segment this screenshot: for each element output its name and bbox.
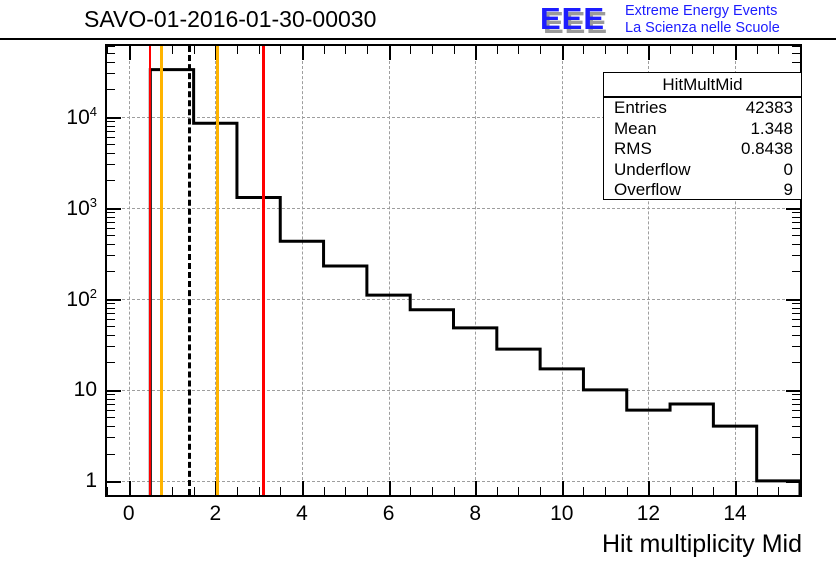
y-axis-tick-label: 1 (9, 469, 97, 493)
x-axis-tick-label: 12 (637, 502, 660, 526)
stats-row-value: 1.348 (750, 119, 793, 140)
stats-row: Mean1.348 (604, 119, 801, 140)
stats-row-key: Mean (614, 119, 657, 140)
eee-logo-line1: Extreme Energy Events (625, 3, 780, 20)
x-axis-title: Hit multiplicity Mid (602, 530, 802, 559)
stats-row: RMS0.8438 (604, 139, 801, 160)
x-axis-tick-label: 6 (383, 502, 395, 526)
eee-logo: EEE EEE Extreme Energy Events La Scienza… (540, 2, 836, 40)
header-divider (0, 38, 836, 40)
stats-rows: Entries42383Mean1.348RMS0.8438Underflow0… (604, 98, 801, 201)
stats-row: Overflow9 (604, 180, 801, 201)
stats-row: Entries42383 (604, 98, 801, 119)
stats-title: HitMultMid (604, 74, 801, 98)
y-axis-tick-label: 104 (9, 104, 97, 130)
root-canvas: SAVO-01-2016-01-30-00030 EEE EEE Extreme… (0, 0, 836, 572)
x-axis-tick-label: 14 (723, 502, 746, 526)
orange-solid-marker-right (216, 46, 219, 495)
red-solid-marker-left (149, 46, 151, 495)
black-dashed-marker (188, 46, 191, 495)
y-axis-tick-label: 10 (9, 378, 97, 402)
y-axis-tick-label: 103 (9, 195, 97, 221)
page-title: SAVO-01-2016-01-30-00030 (84, 6, 376, 33)
stats-row-key: Overflow (614, 180, 681, 201)
x-axis-tick-label: 0 (123, 502, 135, 526)
stats-row-value: 9 (784, 180, 793, 201)
stats-row-value: 42383 (746, 98, 793, 119)
stats-row-key: Entries (614, 98, 667, 119)
stats-box: HitMultMid Entries42383Mean1.348RMS0.843… (603, 72, 802, 200)
eee-logo-line2: La Scienza nelle Scuole (625, 20, 780, 37)
stats-row-key: RMS (614, 139, 652, 160)
x-axis-tick-label: 8 (469, 502, 481, 526)
stats-row-key: Underflow (614, 160, 691, 181)
eee-logo-text: Extreme Energy Events La Scienza nelle S… (625, 3, 780, 37)
y-axis-tick-label: 102 (9, 286, 97, 312)
red-solid-marker-right (262, 46, 265, 495)
x-axis-tick-label: 2 (209, 502, 221, 526)
orange-solid-marker-left (160, 46, 163, 495)
stats-row-value: 0.8438 (741, 139, 793, 160)
x-axis-tick-label: 10 (550, 502, 573, 526)
stats-row-value: 0 (784, 160, 793, 181)
x-axis-tick-label: 4 (296, 502, 308, 526)
eee-logo-mark-front: EEE (540, 2, 605, 36)
stats-row: Underflow0 (604, 160, 801, 181)
